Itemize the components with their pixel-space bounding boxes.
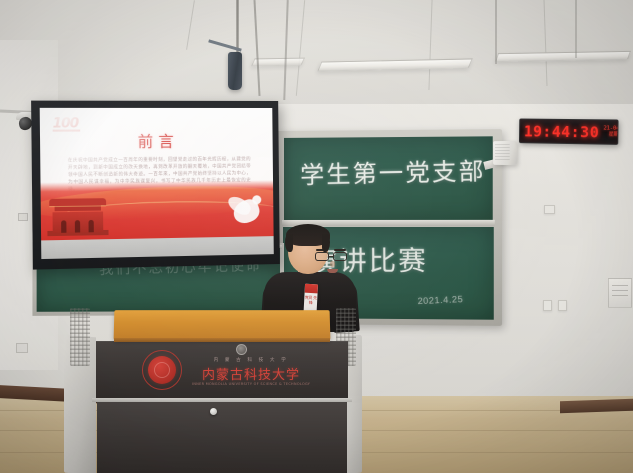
university-name-cn: 内蒙古科技大学: [192, 364, 310, 383]
ceiling: [0, 0, 633, 112]
fluorescent-light-icon: [251, 58, 305, 67]
wall-sign-line: [612, 285, 628, 286]
wall-sign-line: [612, 290, 628, 291]
tiananmen-roof-lower: [55, 205, 101, 211]
podium-lower-panel: [97, 402, 347, 473]
podium: 内 蒙 古 科 技 大 学 内蒙古科技大学 INNER MONGOLIA UNI…: [62, 300, 382, 473]
wall-switch[interactable]: [543, 300, 552, 311]
ceiling-seam: [186, 0, 195, 50]
peace-dove-icon: [221, 186, 266, 229]
podium-lock-knob[interactable]: [210, 408, 217, 415]
blackboard-date: 2021.4.25: [417, 294, 463, 306]
screen-lower-strip: [41, 236, 274, 259]
clock-date-block: 21-04-25 星期日: [603, 126, 618, 138]
wall-plate[interactable]: [18, 213, 28, 221]
blackboard-line1: 学生第一党支部: [300, 151, 486, 190]
projection-screen-surface: 100 前言 在庆祝中国共产党成立一百周年的重要时刻，回望党走过的百年光辉历程，…: [40, 108, 274, 259]
classroom-photo: 学生第一党支部 演讲比赛 2021.4.25 我们不忘初心牢记使命 100 前言: [0, 0, 633, 473]
wall-sign: [608, 278, 632, 308]
university-name-en: INNER MONGOLIA UNIVERSITY OF SCIENCE & T…: [192, 382, 310, 386]
person-hair-side: [285, 234, 293, 252]
person-hair-side: [322, 234, 330, 252]
ceiling-cable: [575, 0, 577, 58]
glasses-icon: [333, 252, 347, 261]
person-eyebrow: [334, 249, 346, 251]
tiananmen-gate-arch: [88, 220, 93, 232]
glasses-icon: [315, 252, 329, 261]
projection-screen-frame: 100 前言 在庆祝中国共产党成立一百周年的重要时刻，回望党走过的百年光辉历程，…: [31, 101, 280, 270]
clock-time: 19:44:30: [524, 122, 600, 141]
fluorescent-light-icon: [495, 51, 631, 62]
projector-icon: [228, 52, 242, 90]
seal-inner-ring: [154, 362, 170, 378]
person-nose: [330, 261, 335, 267]
wall-sign-line: [612, 295, 628, 296]
glasses-bridge: [329, 256, 333, 257]
podium-speaker-grille-left: [70, 308, 90, 366]
wall-switch[interactable]: [544, 205, 555, 214]
university-emblem-icon: [236, 344, 247, 355]
wall-switch[interactable]: [558, 300, 567, 311]
wall-plate[interactable]: [16, 343, 28, 353]
university-name-pinyin: 内 蒙 古 科 技 大 学: [192, 357, 310, 363]
ceiling-cable: [495, 0, 497, 64]
university-seal-icon: [142, 350, 182, 390]
tiananmen-gate-arch: [75, 220, 80, 232]
blackboard-panel-top: 学生第一党支部: [284, 136, 493, 221]
university-nameplate: 内 蒙 古 科 技 大 学 内蒙古科技大学 INNER MONGOLIA UNI…: [192, 344, 310, 396]
podium-desktop: [114, 310, 331, 340]
tiananmen-body: [53, 212, 104, 233]
tiananmen-gate-icon: [47, 194, 109, 236]
clock-weekday: 星期日: [603, 132, 618, 138]
podium-desktop-edge: [114, 338, 330, 342]
tiananmen-gate-arch: [61, 220, 66, 232]
ceiling-seam: [296, 0, 305, 96]
badge-header: [305, 284, 318, 294]
led-clock-display: 19:44:30 21-04-25 星期日: [519, 119, 619, 145]
wall-speaker-icon: [493, 141, 517, 165]
tiananmen-roof-upper: [49, 198, 106, 206]
slide: 100 前言 在庆祝中国共产党成立一百周年的重要时刻，回望党走过的百年光辉历程，…: [40, 108, 274, 241]
ceiling-seam: [428, 0, 432, 90]
podium-divider: [92, 398, 352, 402]
baseboard-right: [560, 399, 633, 414]
slide-banner: [40, 180, 273, 240]
ceiling-cable: [283, 0, 288, 100]
projection-screen: 100 前言 在庆祝中国共产党成立一百周年的重要时刻，回望党走过的百年光辉历程，…: [31, 101, 280, 270]
ceiling-seam: [543, 0, 547, 86]
speaker-grille: [495, 144, 510, 160]
fluorescent-light-icon: [317, 58, 473, 71]
dove-head: [252, 195, 261, 204]
slide-title: 前言: [40, 130, 273, 152]
ceiling-cable: [253, 0, 260, 96]
